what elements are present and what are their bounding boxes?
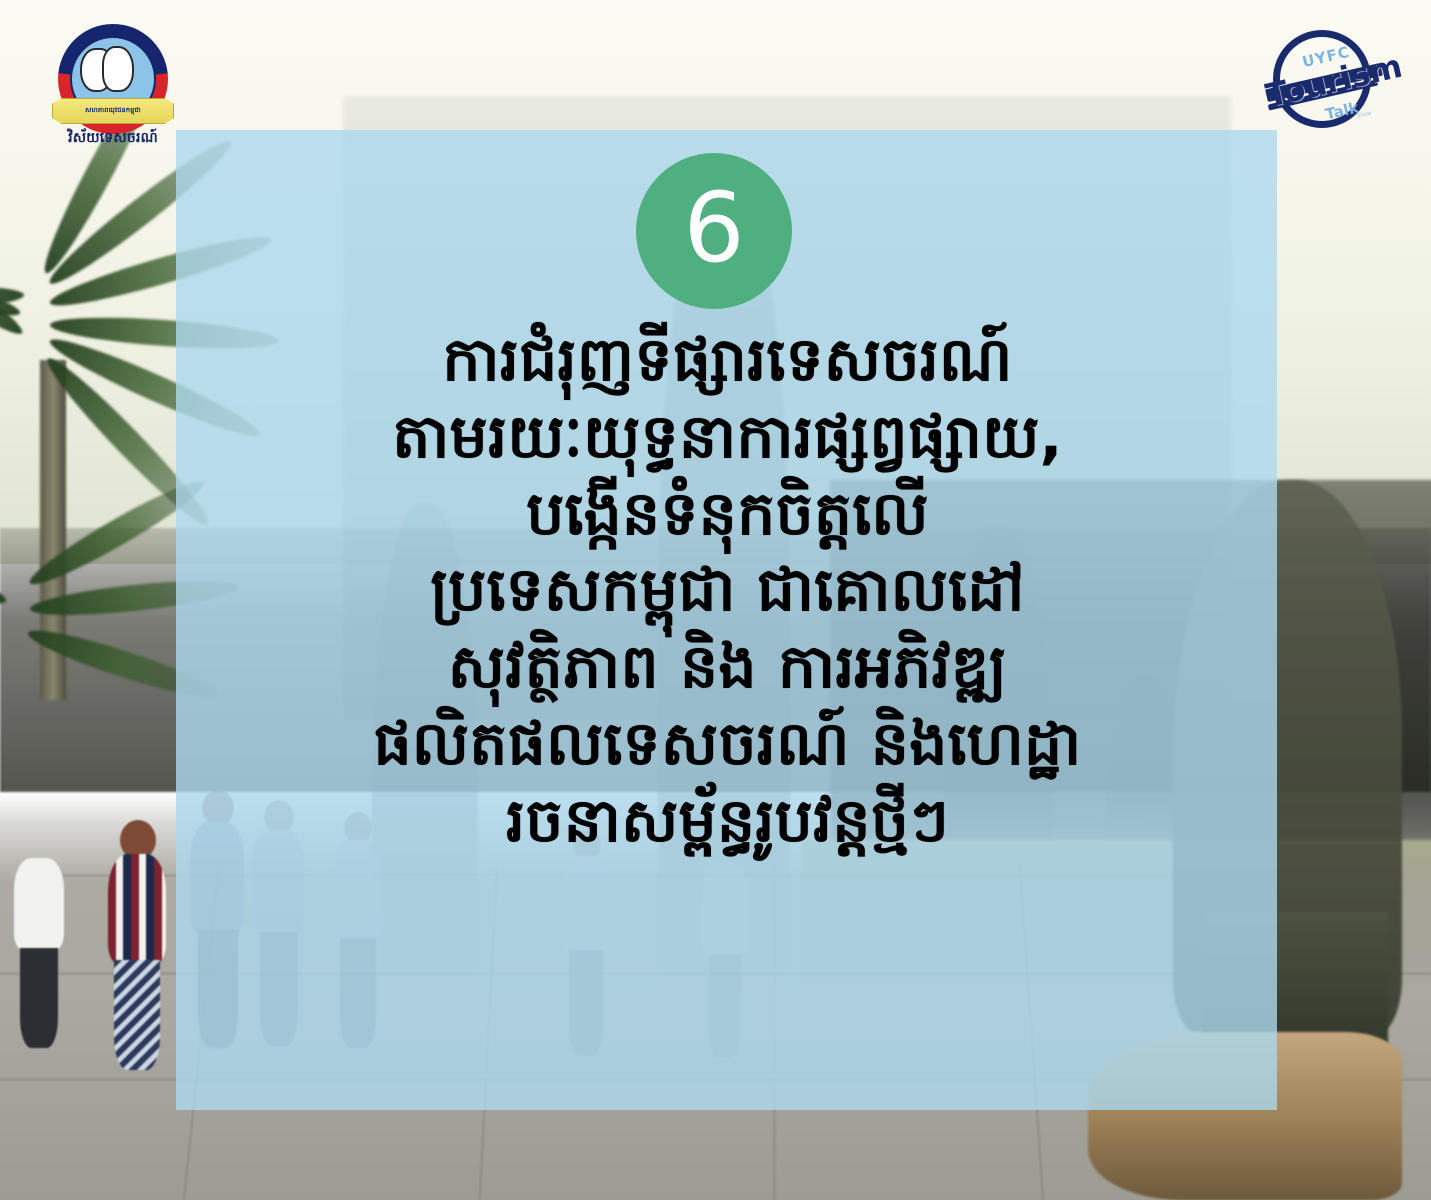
tourist-legs [114, 960, 160, 1070]
step-number-badge: 6 [636, 153, 792, 309]
uyfc-emblem: សហភាពយុវជនកម្ពុជា វិស័យទេសចរណ៍ [50, 24, 176, 154]
headline-line-5: សុវត្ថិភាព និង ការអភិវឌ្ឍ [190, 629, 1265, 706]
headline-line-3: បង្កើនទំនុកចិត្តលើ [190, 476, 1265, 553]
headline-text-block: ការជំរុញទីផ្សារទេសចរណ៍ តាមរយៈយុទ្ធនាការផ… [190, 322, 1265, 860]
tourist-legs [20, 948, 58, 1048]
headline-line-2: តាមរយៈយុទ្ធនាការផ្សព្វផ្សាយ, [190, 399, 1265, 476]
slide-canvas: 6 ការជំរុញទីផ្សារទេសចរណ៍ តាមរយៈយុទ្ធនាកា… [0, 0, 1431, 1200]
tourist-figure [14, 840, 66, 1050]
emblem-face-right-icon [102, 46, 134, 92]
headline-line-7: រចនាសម្ព័ន្ធរូបវន្តថ្មីៗ [190, 783, 1265, 860]
tourism-talk-stamp: UYFC Tourism Talk Show [1261, 26, 1385, 138]
emblem-ribbon-label: សហភាពយុវជនកម្ពុជា [85, 106, 141, 116]
tourist-figure [100, 820, 170, 1070]
headline-line-4: ប្រទេសកម្ពុជា ជាគោលដៅ [190, 552, 1265, 629]
tourist-torso [108, 854, 166, 964]
emblem-caption: វិស័យទេសចរណ៍ [50, 128, 176, 149]
headline-line-1: ការជំរុញទីផ្សារទេសចរណ៍ [190, 322, 1265, 399]
emblem-ribbon: សហភាពយុវជនកម្ពុជា [52, 98, 174, 124]
tourist-torso [14, 858, 64, 950]
step-number-value: 6 [683, 180, 744, 276]
headline-line-6: ផលិតផលទេសចរណ៍ និងហេដ្ឋា [190, 706, 1265, 783]
